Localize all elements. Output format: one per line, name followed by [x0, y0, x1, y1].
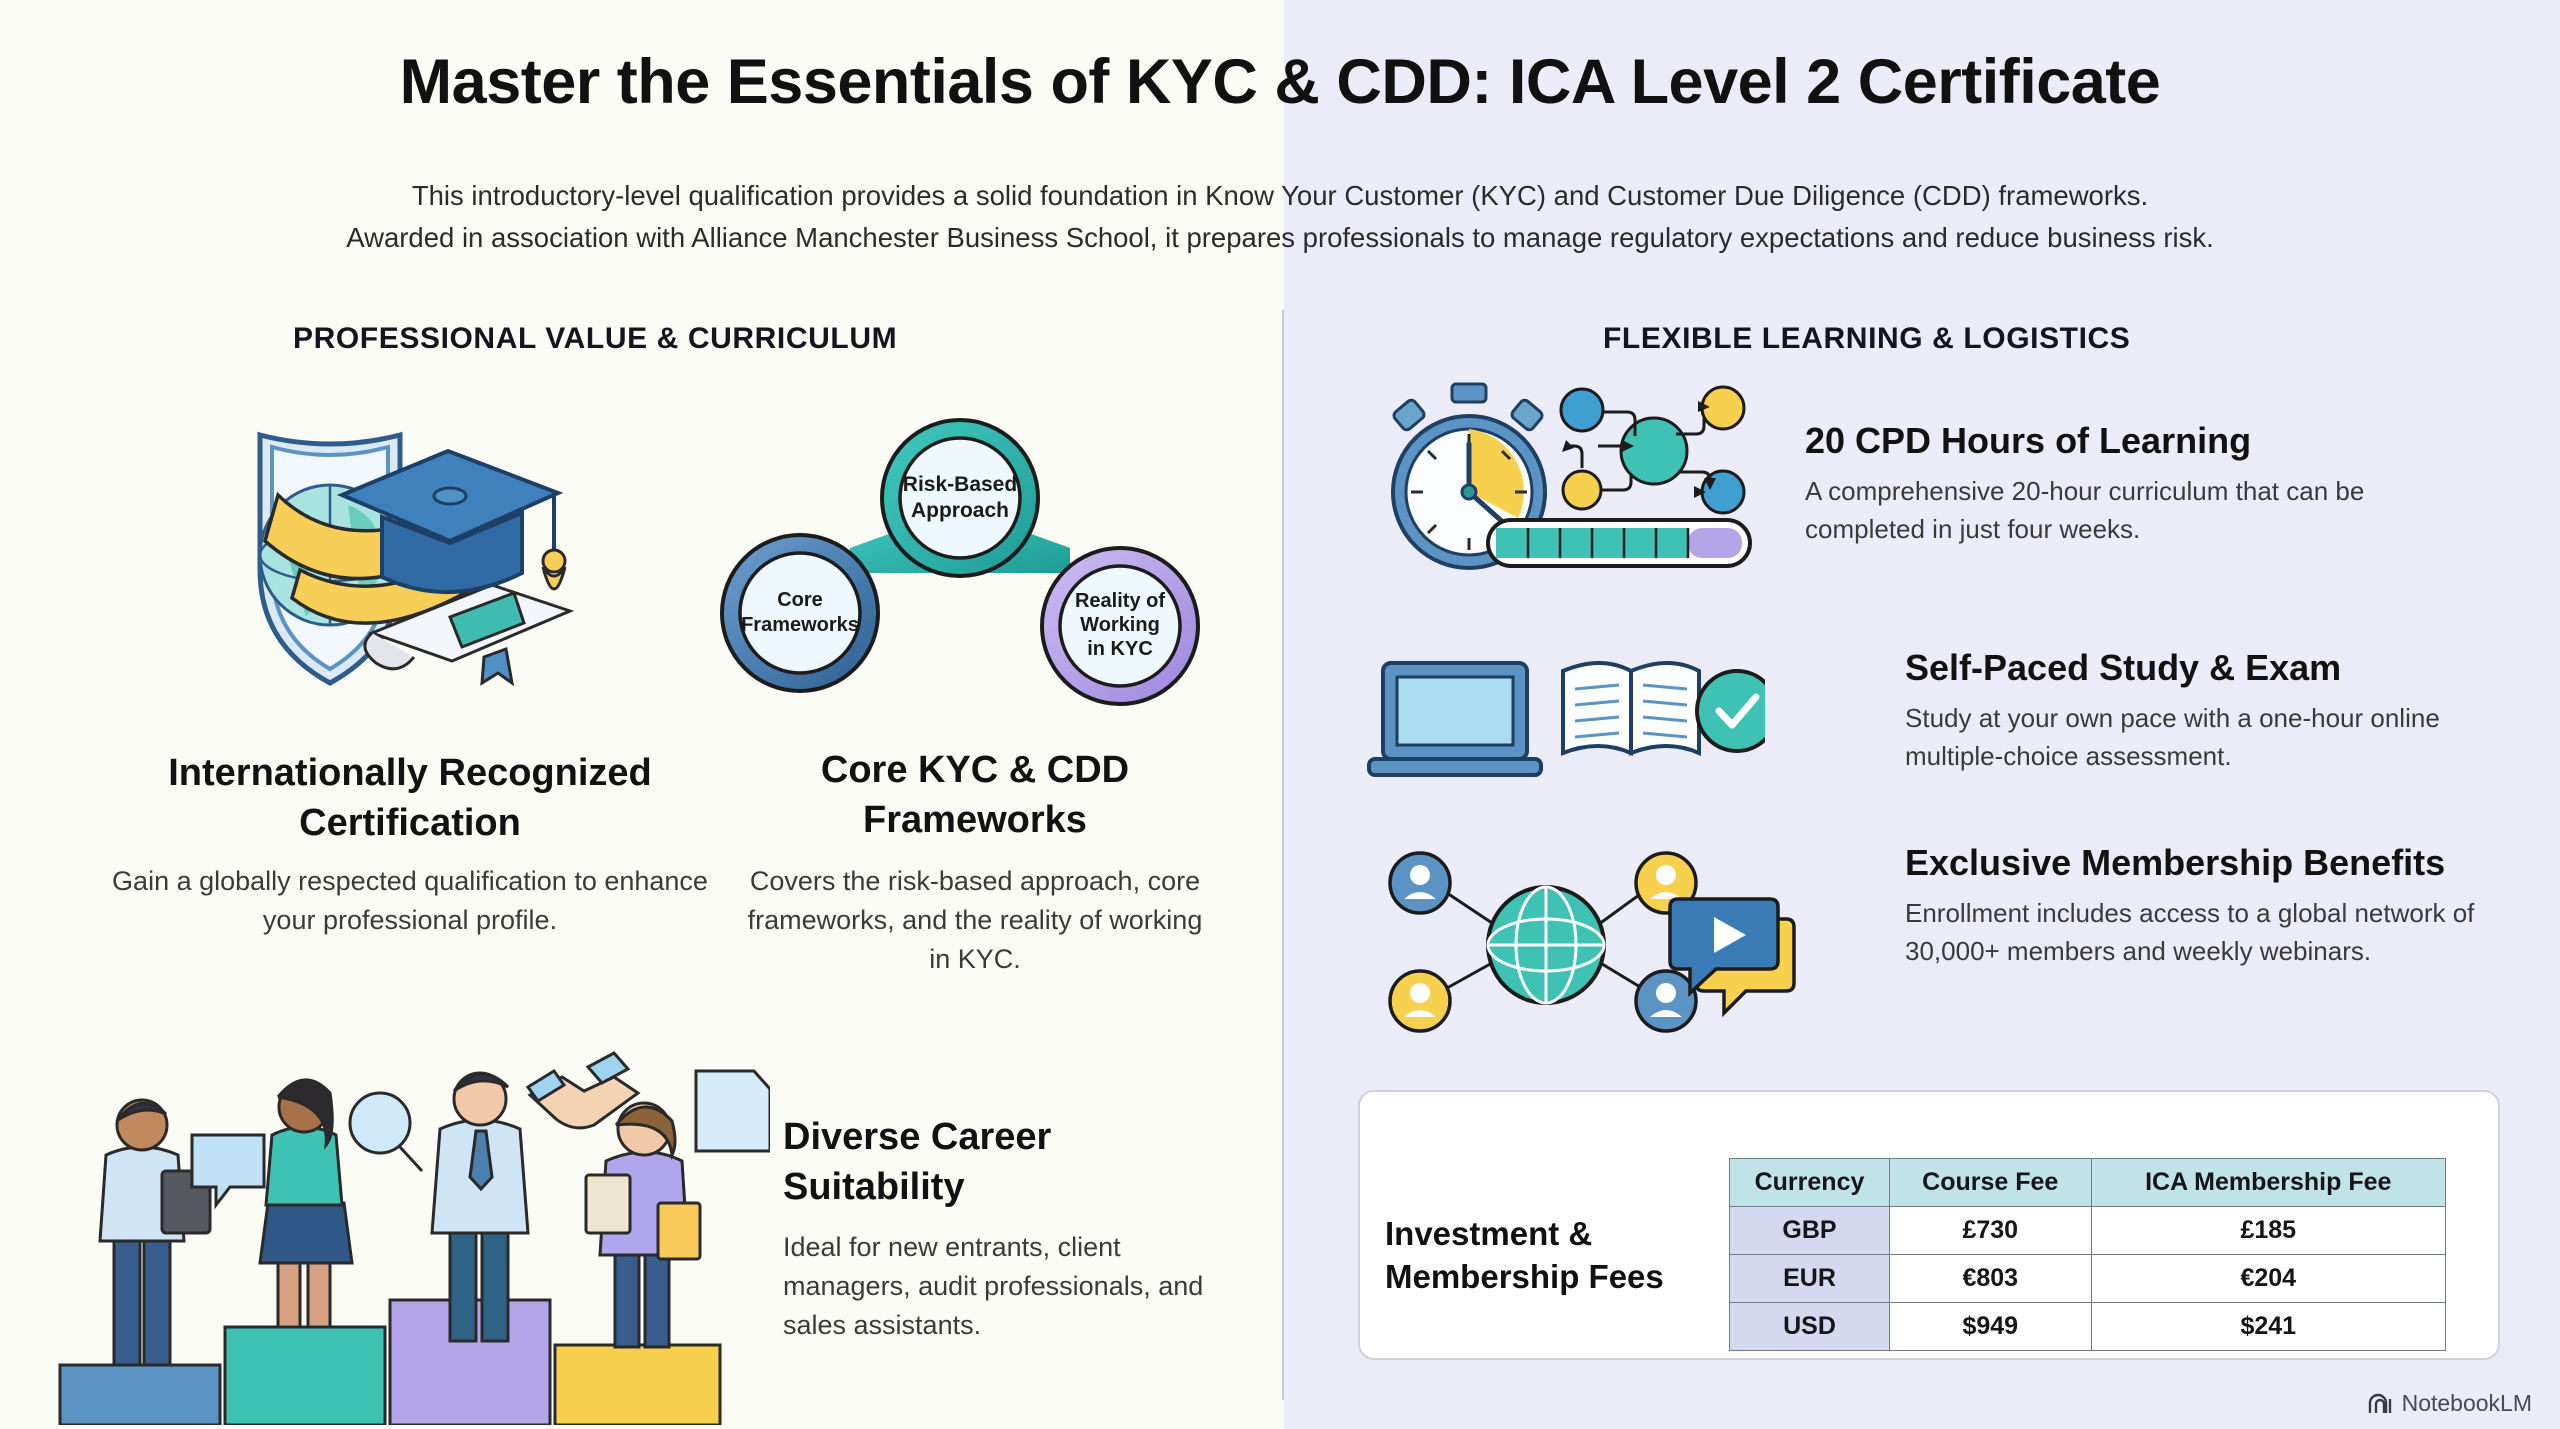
notebooklm-spiral-icon [2368, 1393, 2394, 1415]
card-body-career: Ideal for new entrants, client managers,… [783, 1228, 1223, 1345]
card-title-career: Diverse Career Suitability [783, 1112, 1243, 1212]
cell-course-fee: $949 [1890, 1303, 2092, 1351]
cell-membership-fee: £185 [2091, 1207, 2445, 1255]
svg-text:Reality of: Reality of [1075, 590, 1165, 612]
subtitle-line-2: Awarded in association with Alliance Man… [80, 217, 2480, 259]
venn-label-top: Risk-Based [903, 473, 1017, 496]
svg-text:Approach: Approach [911, 499, 1009, 522]
card-body-certification: Gain a globally respected qualification … [90, 862, 730, 940]
cell-currency: USD [1730, 1303, 1890, 1351]
card-title-frameworks: Core KYC & CDD Frameworks [740, 745, 1210, 845]
fees-panel-label: Investment & Membership Fees [1385, 1212, 1705, 1298]
right-item-title-self-paced: Self-Paced Study & Exam [1905, 645, 2485, 691]
cell-membership-fee: €204 [2091, 1255, 2445, 1303]
column-divider [1282, 310, 1284, 1400]
three-linked-circles-icon: Risk-Based Approach Core Frameworks Real… [700, 398, 1220, 718]
table-row: GBP £730 £185 [1730, 1207, 2446, 1255]
right-item-membership: Exclusive Membership Benefits Enrollment… [1905, 840, 2475, 970]
svg-text:Core: Core [777, 589, 823, 611]
right-item-body-self-paced: Study at your own pace with a one-hour o… [1905, 699, 2485, 775]
infographic-page: Master the Essentials of KYC & CDD: ICA … [0, 0, 2560, 1429]
right-section-heading: FLEXIBLE LEARNING & LOGISTICS [1603, 322, 2130, 356]
cell-membership-fee: $241 [2091, 1303, 2445, 1351]
column-header-course-fee: Course Fee [1890, 1159, 2092, 1207]
svg-text:Working: Working [1080, 614, 1160, 636]
table-row: USD $949 $241 [1730, 1303, 2446, 1351]
laptop-book-check-icon [1365, 645, 1765, 785]
left-section-heading: PROFESSIONAL VALUE & CURRICULUM [293, 322, 897, 356]
right-item-self-paced: Self-Paced Study & Exam Study at your ow… [1905, 645, 2485, 775]
shield-globe-graduation-cap-icon [150, 395, 580, 695]
global-network-chat-icon [1360, 835, 1800, 1055]
fees-table: Currency Course Fee ICA Membership Fee G… [1729, 1158, 2446, 1351]
column-header-currency: Currency [1730, 1159, 1890, 1207]
notebooklm-watermark: NotebookLM [2368, 1390, 2532, 1417]
right-item-body-cpd-hours: A comprehensive 20-hour curriculum that … [1805, 472, 2445, 548]
page-subtitle: This introductory-level qualification pr… [80, 175, 2480, 259]
column-header-membership-fee: ICA Membership Fee [2091, 1159, 2445, 1207]
right-item-body-membership: Enrollment includes access to a global n… [1905, 894, 2475, 970]
card-title-certification: Internationally Recognized Certification [90, 748, 730, 848]
right-item-title-cpd-hours: 20 CPD Hours of Learning [1805, 418, 2445, 464]
right-item-title-membership: Exclusive Membership Benefits [1905, 840, 2475, 886]
table-row: EUR €803 €204 [1730, 1255, 2446, 1303]
right-item-cpd-hours: 20 CPD Hours of Learning A comprehensive… [1805, 418, 2445, 548]
notebooklm-label: NotebookLM [2402, 1390, 2532, 1417]
cell-course-fee: €803 [1890, 1255, 2092, 1303]
cell-currency: GBP [1730, 1207, 1890, 1255]
svg-text:in KYC: in KYC [1087, 638, 1153, 660]
page-title: Master the Essentials of KYC & CDD: ICA … [0, 46, 2560, 118]
subtitle-line-1: This introductory-level qualification pr… [80, 175, 2480, 217]
cell-currency: EUR [1730, 1255, 1890, 1303]
stopwatch-progress-network-icon [1360, 368, 1760, 578]
table-header-row: Currency Course Fee ICA Membership Fee [1730, 1159, 2446, 1207]
career-podium-people-icon [40, 975, 770, 1425]
card-body-frameworks: Covers the risk-based approach, core fra… [735, 862, 1215, 979]
cell-course-fee: £730 [1890, 1207, 2092, 1255]
svg-text:Frameworks: Frameworks [741, 614, 859, 636]
